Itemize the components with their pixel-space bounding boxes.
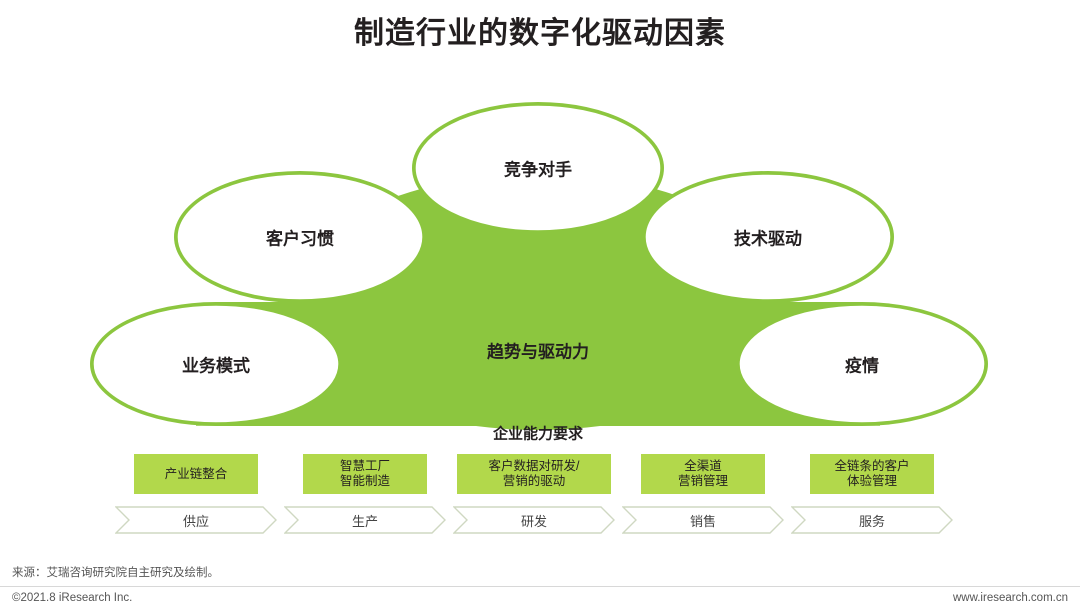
page-title: 制造行业的数字化驱动因素 xyxy=(0,8,1080,52)
bubble-label-3: 业务模式 xyxy=(182,352,250,377)
bubble-label-2: 技术驱动 xyxy=(734,225,802,250)
capability-box-line: 智能制造 xyxy=(340,474,390,489)
capability-box-line: 全链条的客户 xyxy=(834,459,909,474)
stage-label: 研发 xyxy=(521,511,547,530)
capability-box: 全链条的客户 体验管理 xyxy=(810,454,934,494)
diagram-canvas: 竞争对手 客户习惯 技术驱动 业务模式 疫情 趋势与驱动力 企业能力要求 产业链… xyxy=(0,72,1080,552)
stage-chevron: 研发 xyxy=(453,506,615,534)
source-note: 来源：艾瑞咨询研究院自主研究及绘制。 xyxy=(12,564,219,580)
copyright-text: ©2021.8 iResearch Inc. xyxy=(12,592,132,604)
capability-box-line: 营销管理 xyxy=(678,474,728,489)
stage-chevron: 服务 xyxy=(791,506,953,534)
bubble-label-1: 客户习惯 xyxy=(266,225,334,250)
capability-label: 企业能力要求 xyxy=(493,423,583,444)
stage-label: 供应 xyxy=(183,511,209,530)
stage-label: 服务 xyxy=(859,511,885,530)
bubble-label-0: 竞争对手 xyxy=(504,156,572,181)
capability-box-line: 智慧工厂 xyxy=(340,459,390,474)
footer-divider xyxy=(0,586,1080,615)
capability-box-line: 客户数据对研发/ xyxy=(489,459,580,474)
stage-label: 销售 xyxy=(690,511,716,530)
capability-box-line: 产业链整合 xyxy=(165,467,228,482)
center-label: 趋势与驱动力 xyxy=(487,338,589,363)
capability-box-line: 营销的驱动 xyxy=(489,474,580,489)
capability-box: 智慧工厂 智能制造 xyxy=(303,454,427,494)
site-url: www.iresearch.com.cn xyxy=(953,592,1068,604)
stage-chevron: 生产 xyxy=(284,506,446,534)
capability-box: 全渠道 营销管理 xyxy=(641,454,765,494)
stage-chevron: 销售 xyxy=(622,506,784,534)
capability-box-line: 体验管理 xyxy=(834,474,909,489)
capability-box: 客户数据对研发/ 营销的驱动 xyxy=(457,454,611,494)
stage-label: 生产 xyxy=(352,511,378,530)
stage-chevron: 供应 xyxy=(115,506,277,534)
capability-box-line: 全渠道 xyxy=(678,459,728,474)
capability-box: 产业链整合 xyxy=(134,454,258,494)
bubble-label-4: 疫情 xyxy=(845,352,879,377)
